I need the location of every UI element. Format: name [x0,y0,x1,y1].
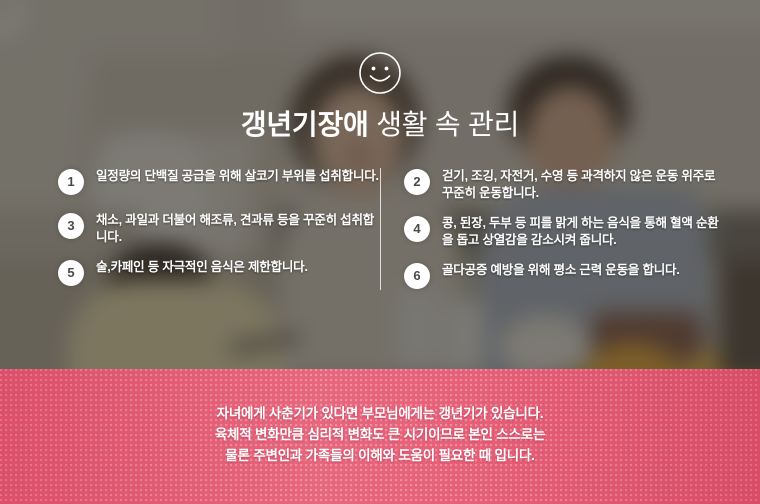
tip-text: 채소, 과일과 더불어 해조류, 견과류 등을 꾸준히 섭취합니다. [96,212,383,246]
tip-item: 2 걷기, 조깅, 자전거, 수영 등 과격하지 않은 운동 위주로 꾸준히 운… [404,168,729,202]
tip-number-badge: 3 [58,213,84,239]
tip-number-badge: 6 [404,263,430,289]
tips-column-right: 2 걷기, 조깅, 자전거, 수영 등 과격하지 않은 운동 위주로 꾸준히 운… [404,168,729,306]
footer-line: 육체적 변화만큼 심리적 변화도 큰 시기이므로 본인 스스로는 [0,424,760,445]
footer-message: 자녀에게 사춘기가 있다면 부모님에게는 갱년기가 있습니다. 육체적 변화만큼… [0,403,760,466]
infographic-root: 갱년기장애 생활 속 관리 1 일정량의 단백질 공급을 위해 살코기 부위를 … [0,0,760,504]
tip-text: 술,카페인 등 자극적인 음식은 제한합니다. [96,259,308,276]
tip-item: 6 골다공증 예방을 위해 평소 근력 운동을 합니다. [404,262,729,293]
page-title: 갱년기장애 생활 속 관리 [0,108,760,142]
tip-text: 콩, 된장, 두부 등 피를 맑게 하는 음식을 통해 혈액 순환을 돕고 상열… [442,215,729,249]
tip-number-badge: 1 [58,169,84,195]
tip-item: 3 채소, 과일과 더불어 해조류, 견과류 등을 꾸준히 섭취합니다. [58,212,383,246]
tip-item: 5 술,카페인 등 자극적인 음식은 제한합니다. [58,259,383,290]
tip-number-badge: 4 [404,216,430,242]
tips-section: 1 일정량의 단백질 공급을 위해 살코기 부위를 섭취합니다. 3 채소, 과… [0,168,760,298]
page-title-light: 생활 속 관리 [369,109,520,140]
tip-text: 일정량의 단백질 공급을 위해 살코기 부위를 섭취합니다. [96,168,379,185]
page-title-strong: 갱년기장애 [241,109,369,140]
smiley-face-icon [357,50,403,96]
header: 갱년기장애 생활 속 관리 [0,50,760,142]
tip-text: 걷기, 조깅, 자전거, 수영 등 과격하지 않은 운동 위주로 꾸준히 운동합… [442,168,729,202]
tip-text: 골다공증 예방을 위해 평소 근력 운동을 합니다. [442,262,680,279]
footer-line: 자녀에게 사춘기가 있다면 부모님에게는 갱년기가 있습니다. [0,403,760,424]
tip-number-badge: 5 [58,260,84,286]
tips-column-left: 1 일정량의 단백질 공급을 위해 살코기 부위를 섭취합니다. 3 채소, 과… [58,168,383,303]
footer-line: 물론 주변인과 가족들의 이해와 도움이 필요한 때 입니다. [0,445,760,466]
footer-banner: 자녀에게 사춘기가 있다면 부모님에게는 갱년기가 있습니다. 육체적 변화만큼… [0,369,760,504]
tip-item: 4 콩, 된장, 두부 등 피를 맑게 하는 음식을 통해 혈액 순환을 돕고 … [404,215,729,249]
tip-item: 1 일정량의 단백질 공급을 위해 살코기 부위를 섭취합니다. [58,168,383,199]
tip-number-badge: 2 [404,169,430,195]
